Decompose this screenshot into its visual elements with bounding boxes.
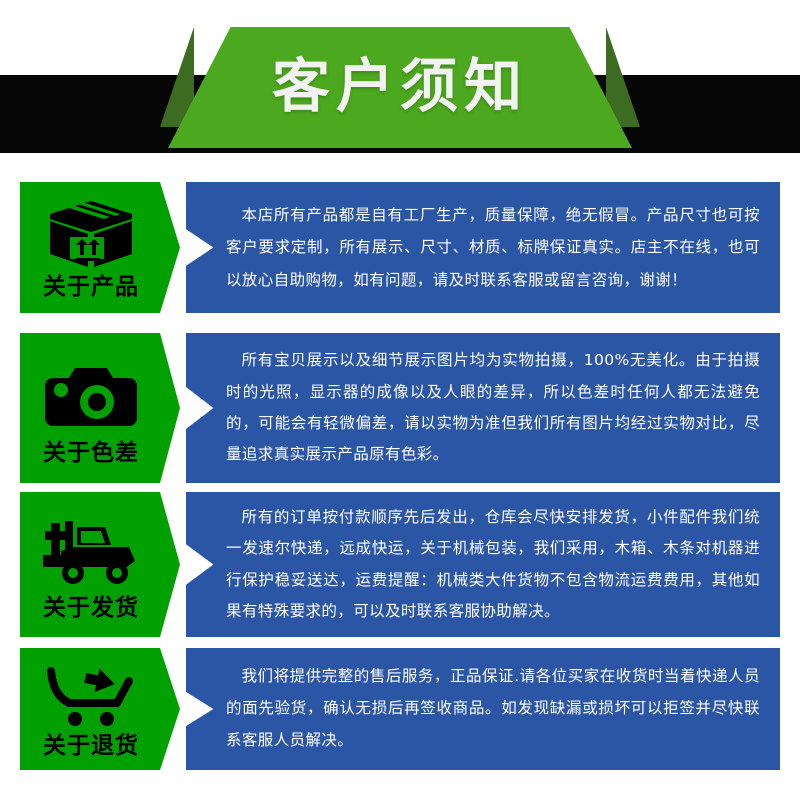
tile-return[interactable]: 关于退货 <box>20 648 180 770</box>
return-cart-icon <box>20 660 162 731</box>
tile-label-shipping: 关于发货 <box>43 597 139 620</box>
panel-text-color: 所有宝贝展示以及细节展示图片均为实物拍摄，100%无美化。由于拍摄时的光照，显示… <box>226 345 760 470</box>
panel-product: 本店所有产品都是自有工厂生产，质量保障，绝无假冒。产品尺寸也可按客户要求定制，所… <box>186 182 780 313</box>
panel-text-return: 我们将提供完整的售后服务，正品保证.请各位买家在收货时当着快递人员的面先验货，确… <box>226 661 760 756</box>
tile-label-product: 关于产品 <box>43 276 139 299</box>
tile-product[interactable]: 关于产品 <box>20 182 180 313</box>
panel-color: 所有宝贝展示以及细节展示图片均为实物拍摄，100%无美化。由于拍摄时的光照，显示… <box>186 333 780 483</box>
notice-row-shipping: 关于发货 所有的订单按付款顺序先后发出，仓库会尽快安排发货，小件配件我们统一发速… <box>0 492 800 637</box>
notice-row-return: 关于退货 我们将提供完整的售后服务，正品保证.请各位买家在收货时当着快递人员的面… <box>0 648 800 770</box>
forklift-truck-icon <box>20 509 162 593</box>
panel-text-shipping: 所有的订单按付款顺序先后发出，仓库会尽快安排发货，小件配件我们统一发速尔快递，远… <box>226 502 760 627</box>
tile-color[interactable]: 关于色差 <box>20 333 180 483</box>
notice-row-color: 关于色差 所有宝贝展示以及细节展示图片均为实物拍摄，100%无美化。由于拍摄时的… <box>0 333 800 483</box>
panel-shipping: 所有的订单按付款顺序先后发出，仓库会尽快安排发货，小件配件我们统一发速尔快递，远… <box>186 492 780 637</box>
notice-row-product: 关于产品 本店所有产品都是自有工厂生产，质量保障，绝无假冒。产品尺寸也可按客户要… <box>0 182 800 313</box>
panel-return: 我们将提供完整的售后服务，正品保证.请各位买家在收货时当着快递人员的面先验货，确… <box>186 648 780 770</box>
camera-icon <box>20 351 162 438</box>
page-title: 客户须知 <box>168 27 632 148</box>
panel-text-product: 本店所有产品都是自有工厂生产，质量保障，绝无假冒。产品尺寸也可按客户要求定制，所… <box>226 199 760 297</box>
package-box-icon <box>20 196 162 272</box>
customer-notice-page: 客户须知 <box>0 0 800 800</box>
tile-shipping[interactable]: 关于发货 <box>20 492 180 637</box>
page-header: 客户须知 <box>0 0 800 165</box>
tile-label-color: 关于色差 <box>43 442 139 465</box>
tile-label-return: 关于退货 <box>43 735 139 758</box>
